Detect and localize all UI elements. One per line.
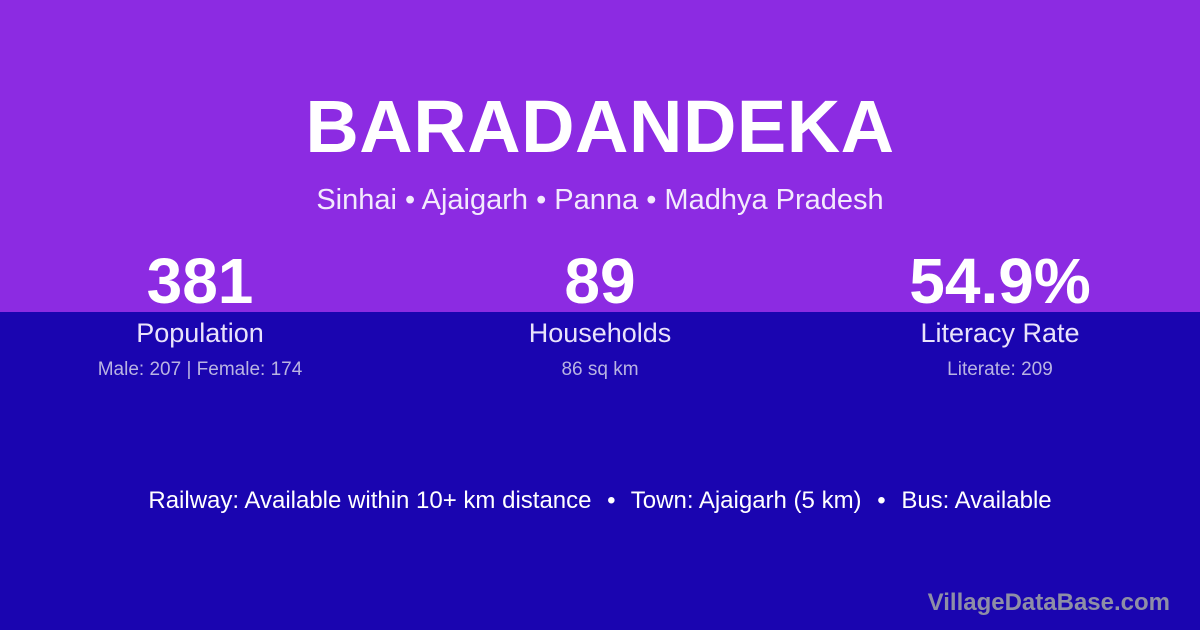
stats-row: 381 Population Male: 207 | Female: 174 8…	[0, 248, 1200, 382]
stat-subtext: Literate: 209	[800, 358, 1200, 382]
stat-population: 381 Population Male: 207 | Female: 174	[0, 248, 400, 382]
stat-value: 89	[400, 248, 800, 314]
amenities-bar: Railway: Available within 10+ km distanc…	[0, 486, 1200, 516]
location-breadcrumb: Sinhai • Ajaigarh • Panna • Madhya Prade…	[0, 182, 1200, 218]
stat-label: Population	[0, 316, 400, 350]
stat-value: 54.9%	[800, 248, 1200, 314]
stat-value: 381	[0, 248, 400, 314]
page-title: BARADANDEKA	[0, 84, 1200, 170]
amenity-separator-icon: •	[598, 487, 624, 514]
amenity-railway: Railway: Available within 10+ km distanc…	[148, 487, 591, 514]
stat-subtext: Male: 207 | Female: 174	[0, 358, 400, 382]
amenity-bus: Bus: Available	[901, 487, 1051, 514]
stat-literacy-rate: 54.9% Literacy Rate Literate: 209	[800, 248, 1200, 382]
stat-households: 89 Households 86 sq km	[400, 248, 800, 382]
site-brand-watermark: VillageDataBase.com	[928, 588, 1170, 618]
amenity-separator-icon: •	[868, 487, 894, 514]
amenity-town: Town: Ajaigarh (5 km)	[631, 487, 862, 514]
stat-label: Literacy Rate	[800, 316, 1200, 350]
village-info-card: BARADANDEKA Sinhai • Ajaigarh • Panna • …	[0, 0, 1200, 630]
stat-subtext: 86 sq km	[400, 358, 800, 382]
stat-label: Households	[400, 316, 800, 350]
